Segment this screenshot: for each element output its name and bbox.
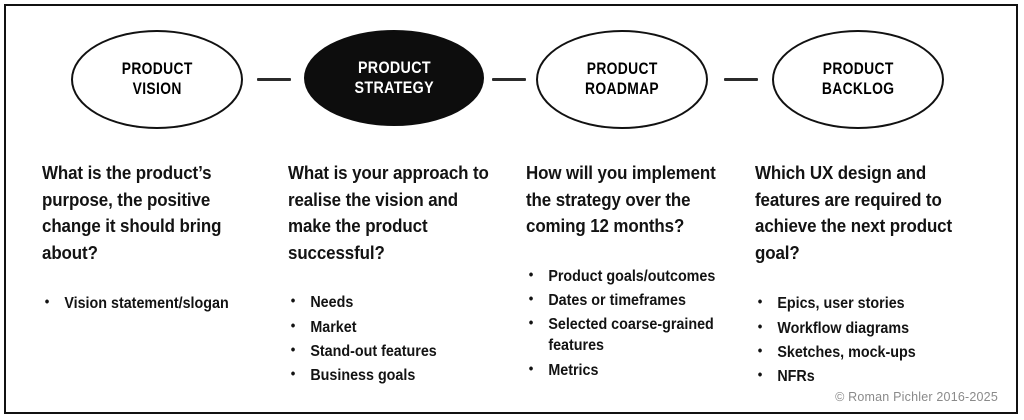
diagram-canvas: PRODUCT VISION PRODUCT STRATEGY PRODUCT … <box>0 0 1024 420</box>
connector-vision-strategy <box>257 78 291 81</box>
node-product-roadmap[interactable]: PRODUCT ROADMAP <box>536 30 708 129</box>
list-item: Market <box>288 317 500 338</box>
list-item: Selected coarse-grained features <box>526 314 721 357</box>
copyright-notice: © Roman Pichler 2016-2025 <box>835 390 998 404</box>
node-product-roadmap-line1: PRODUCT <box>587 60 658 79</box>
list-item: Product goals/outcomes <box>526 266 721 287</box>
node-product-strategy[interactable]: PRODUCT STRATEGY <box>304 30 484 126</box>
column-backlog: Which UX design and features are require… <box>755 160 990 390</box>
node-product-strategy-line1: PRODUCT <box>358 58 431 78</box>
list-item: Business goals <box>288 365 500 386</box>
node-product-roadmap-line2: ROADMAP <box>585 80 659 99</box>
node-product-backlog-line1: PRODUCT <box>823 60 894 79</box>
node-product-vision-line2: VISION <box>132 80 181 99</box>
node-product-backlog[interactable]: PRODUCT BACKLOG <box>772 30 944 129</box>
column-roadmap-bullets: Product goals/outcomes Dates or timefram… <box>526 266 721 381</box>
column-roadmap: How will you implement the strategy over… <box>526 160 736 384</box>
list-item: Workflow diagrams <box>755 318 974 339</box>
column-vision-bullets: Vision statement/slogan <box>42 293 265 314</box>
list-item: Needs <box>288 292 500 313</box>
column-backlog-bullets: Epics, user stories Workflow diagrams Sk… <box>755 293 974 387</box>
list-item: Metrics <box>526 360 721 381</box>
node-product-backlog-line2: BACKLOG <box>822 80 894 99</box>
node-product-vision-line1: PRODUCT <box>122 60 193 79</box>
list-item: Vision statement/slogan <box>42 293 265 314</box>
list-item: Dates or timeframes <box>526 290 721 311</box>
column-vision-question: What is the product’s purpose, the posit… <box>42 160 265 266</box>
node-product-strategy-line2: STRATEGY <box>354 78 433 98</box>
column-strategy-question: What is your approach to realise the vis… <box>288 160 500 266</box>
connector-roadmap-backlog <box>724 78 758 81</box>
list-item: Sketches, mock-ups <box>755 342 974 363</box>
list-item: Stand-out features <box>288 341 500 362</box>
list-item: NFRs <box>755 366 974 387</box>
column-backlog-question: Which UX design and features are require… <box>755 160 974 266</box>
node-product-vision[interactable]: PRODUCT VISION <box>71 30 243 129</box>
connector-strategy-roadmap <box>492 78 526 81</box>
column-strategy-bullets: Needs Market Stand-out features Business… <box>288 292 500 386</box>
process-flow: PRODUCT VISION PRODUCT STRATEGY PRODUCT … <box>0 30 1024 132</box>
column-roadmap-question: How will you implement the strategy over… <box>526 160 721 240</box>
list-item: Epics, user stories <box>755 293 974 314</box>
column-vision: What is the product’s purpose, the posit… <box>42 160 282 318</box>
column-strategy: What is your approach to realise the vis… <box>288 160 516 389</box>
